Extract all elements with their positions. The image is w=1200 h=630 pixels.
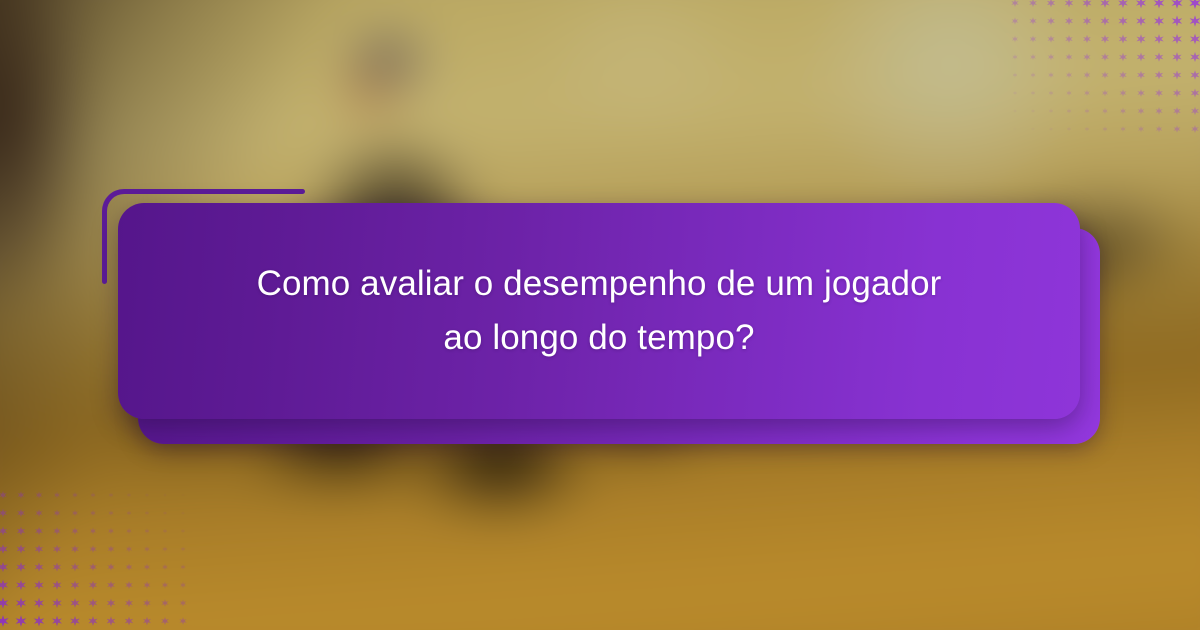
card-stack: Como avaliar o desempenho de um jogador … bbox=[0, 0, 1200, 630]
headline-card: Como avaliar o desempenho de um jogador … bbox=[118, 203, 1080, 419]
page-title: Como avaliar o desempenho de um jogador … bbox=[257, 257, 942, 366]
social-card-canvas: Como avaliar o desempenho de um jogador … bbox=[0, 0, 1200, 630]
